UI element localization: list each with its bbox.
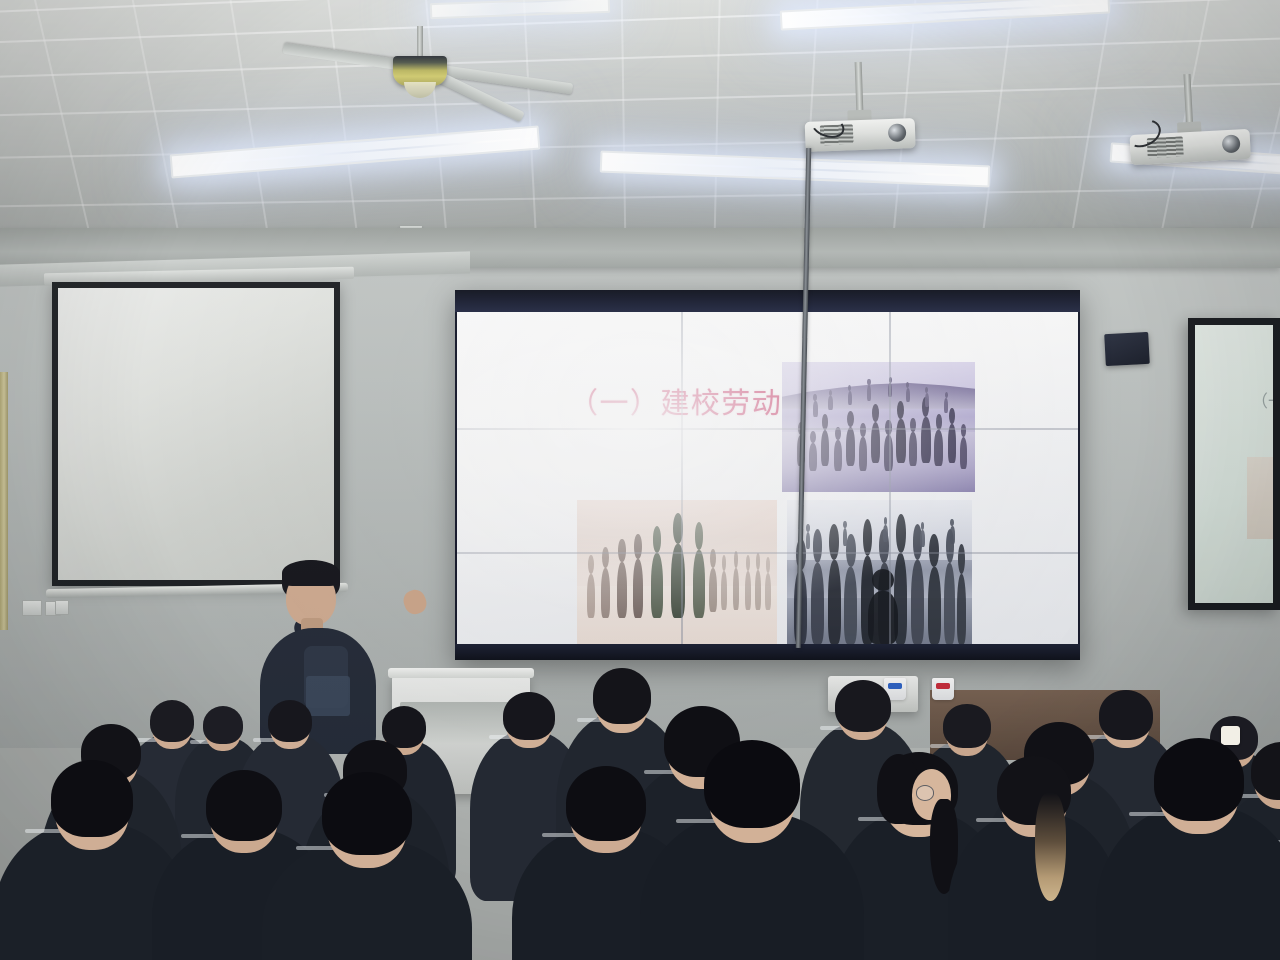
audience-member: [1096, 738, 1280, 960]
wall-speaker: [1104, 332, 1150, 366]
video-wall-bottom-bezel: [455, 644, 1080, 660]
photo-figures: [787, 500, 972, 644]
video-wall-seam-vertical: [681, 312, 683, 644]
audience-ponytail-highlighted: [1035, 793, 1065, 901]
screen-surface: [58, 288, 334, 580]
photo-image: [577, 500, 777, 644]
audience-hair: [704, 740, 800, 828]
presenter-hand: [401, 587, 430, 617]
photo-person: [957, 574, 966, 644]
light-tubes: [433, 0, 607, 16]
photo-person: [828, 560, 841, 644]
cup-logo: [936, 683, 950, 690]
fan-light-cap: [404, 82, 436, 98]
projector-right: [1129, 117, 1251, 167]
audience-hair: [503, 692, 555, 740]
photo-person: [765, 573, 771, 610]
ceiling-fan: [360, 26, 480, 106]
photo-person: [960, 437, 968, 468]
slide-canvas: （一）建校劳动: [457, 312, 1078, 644]
photo-person: [811, 563, 824, 644]
photo-person: [745, 571, 751, 609]
video-wall-top-bezel: [455, 290, 1080, 312]
photo-person: [909, 432, 917, 466]
photo-figures: [577, 500, 777, 644]
audience-member: [262, 772, 472, 960]
secondary-slide-title: （一）: [1251, 387, 1273, 412]
photo-person: [806, 532, 811, 550]
photo-person: [944, 398, 948, 412]
wall-switch-plate[interactable]: [22, 600, 42, 616]
slide-title: （一）建校劳动: [569, 380, 782, 422]
slide-photo-students-carrying-loads: [577, 500, 777, 644]
glasses-icon: [916, 785, 934, 800]
photo-person: [821, 430, 830, 466]
photo-person: [934, 430, 943, 466]
photo-person: [828, 396, 832, 410]
photo-person: [925, 393, 929, 407]
slide-photo-workers-around-cart: [787, 500, 972, 644]
photo-person: [813, 401, 818, 417]
photo-person: [867, 385, 871, 401]
audience-member: [948, 756, 1120, 960]
photo-person: [921, 417, 931, 464]
screen-frame: [52, 282, 340, 586]
photo-person: [883, 525, 888, 543]
audience-hair: [1154, 738, 1244, 821]
photo-person: [896, 419, 906, 463]
video-wall-seam-horizontal: [457, 428, 1078, 430]
photo-person: [633, 559, 643, 618]
secondary-display[interactable]: （一）: [1188, 318, 1280, 610]
slide-photo-construction-labor-crowd: [782, 362, 975, 492]
photo-person: [950, 526, 955, 544]
photo-person: [906, 388, 910, 402]
photo-person: [834, 440, 842, 471]
audience-hair: [835, 680, 891, 732]
photo-person: [733, 568, 739, 609]
photo-person: [671, 544, 685, 618]
photo-figures: [782, 362, 975, 492]
photo-person: [911, 560, 924, 644]
photo-person: [843, 528, 848, 546]
photo-person: [948, 424, 956, 463]
photo-person: [928, 567, 941, 644]
video-wall-seam-vertical: [889, 312, 891, 644]
audience-hair: [51, 760, 134, 837]
left-projection-screen: [52, 282, 340, 586]
secondary-slide-photo: [1247, 457, 1273, 539]
secondary-display-surface: （一）: [1195, 325, 1273, 603]
photo-person: [601, 568, 610, 618]
photo-person: [651, 553, 663, 618]
audience-hair: [268, 700, 313, 742]
photo-person: [693, 550, 705, 618]
photo-person: [809, 443, 817, 472]
photo-person: [848, 391, 852, 405]
photo-person: [587, 574, 595, 618]
audience-member: [640, 740, 864, 960]
photo-person: [859, 437, 867, 471]
audience-hair: [322, 772, 412, 855]
video-wall-seam-horizontal: [457, 552, 1078, 554]
photo-person: [944, 563, 955, 644]
photo-person: [721, 571, 727, 609]
presenter-hair-top: [282, 560, 340, 586]
projector-center: [804, 106, 915, 154]
wall-outlet-plate[interactable]: [55, 600, 69, 615]
photo-person: [868, 591, 898, 644]
photo-person: [844, 567, 857, 644]
photo-person: [846, 427, 856, 466]
photo-person: [709, 568, 717, 612]
photo-person: [755, 570, 761, 610]
paper-cup[interactable]: [932, 678, 954, 700]
audience-hair: [566, 766, 647, 841]
photo-person: [920, 530, 925, 548]
photo-person: [617, 562, 627, 618]
lecture-hall-photo: （一）建校劳动: [0, 0, 1280, 960]
fan-rod: [417, 26, 423, 60]
photo-image: [782, 362, 975, 492]
door-frame-edge: [0, 372, 8, 630]
video-wall-display[interactable]: （一）建校劳动: [455, 290, 1080, 660]
photo-image: [787, 500, 972, 644]
